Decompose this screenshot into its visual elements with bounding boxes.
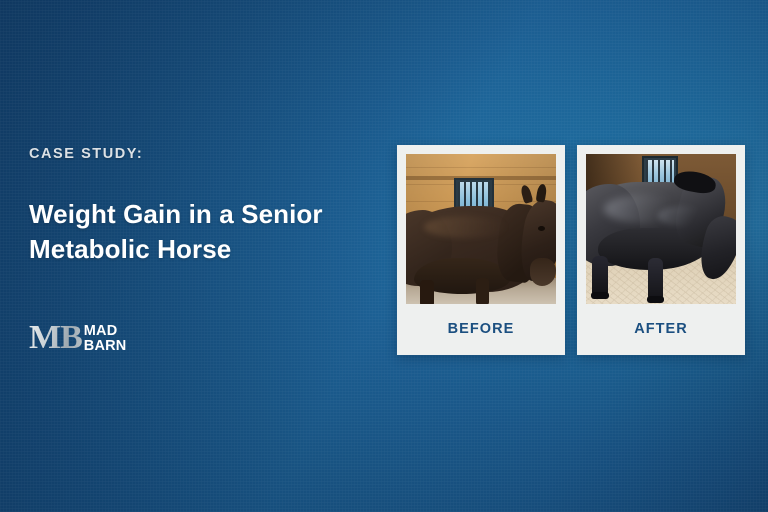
logo-monogram: MB — [29, 322, 83, 354]
logo-wordmark: MAD BARN — [84, 323, 127, 354]
photo-card-after[interactable]: AFTER — [577, 145, 745, 355]
page-title-line-2: Metabolic Horse — [29, 232, 359, 267]
horse-eye-before — [538, 226, 545, 231]
logo-word-top: MAD — [84, 324, 127, 339]
horse-hind-hoof-after — [591, 292, 609, 299]
horse-front-leg-after — [648, 258, 663, 300]
photo-before — [406, 154, 556, 304]
page-title-line-1: Weight Gain in a Senior — [29, 197, 359, 232]
photo-card-before[interactable]: BEFORE — [397, 145, 565, 355]
brand-logo[interactable]: MB MAD BARN — [29, 322, 126, 354]
slide-canvas: CASE STUDY: Weight Gain in a Senior Meta… — [0, 0, 768, 512]
logo-word-bottom: BARN — [84, 339, 127, 354]
horse-coat-highlight-before — [424, 216, 508, 238]
horse-hind-leg-after — [592, 256, 608, 296]
photo-after — [586, 154, 736, 304]
eyebrow-label: CASE STUDY: — [29, 146, 359, 162]
horse-front-hoof-after — [647, 296, 664, 303]
horse-coat-sheen-secondary-after — [658, 206, 708, 226]
headline-block: CASE STUDY: Weight Gain in a Senior Meta… — [29, 146, 359, 267]
horse-hind-leg-before — [420, 280, 434, 304]
page-title: Weight Gain in a Senior Metabolic Horse — [29, 197, 359, 267]
horse-front-leg-before — [476, 278, 489, 304]
caption-after: AFTER — [586, 304, 736, 355]
caption-before: BEFORE — [406, 304, 556, 355]
